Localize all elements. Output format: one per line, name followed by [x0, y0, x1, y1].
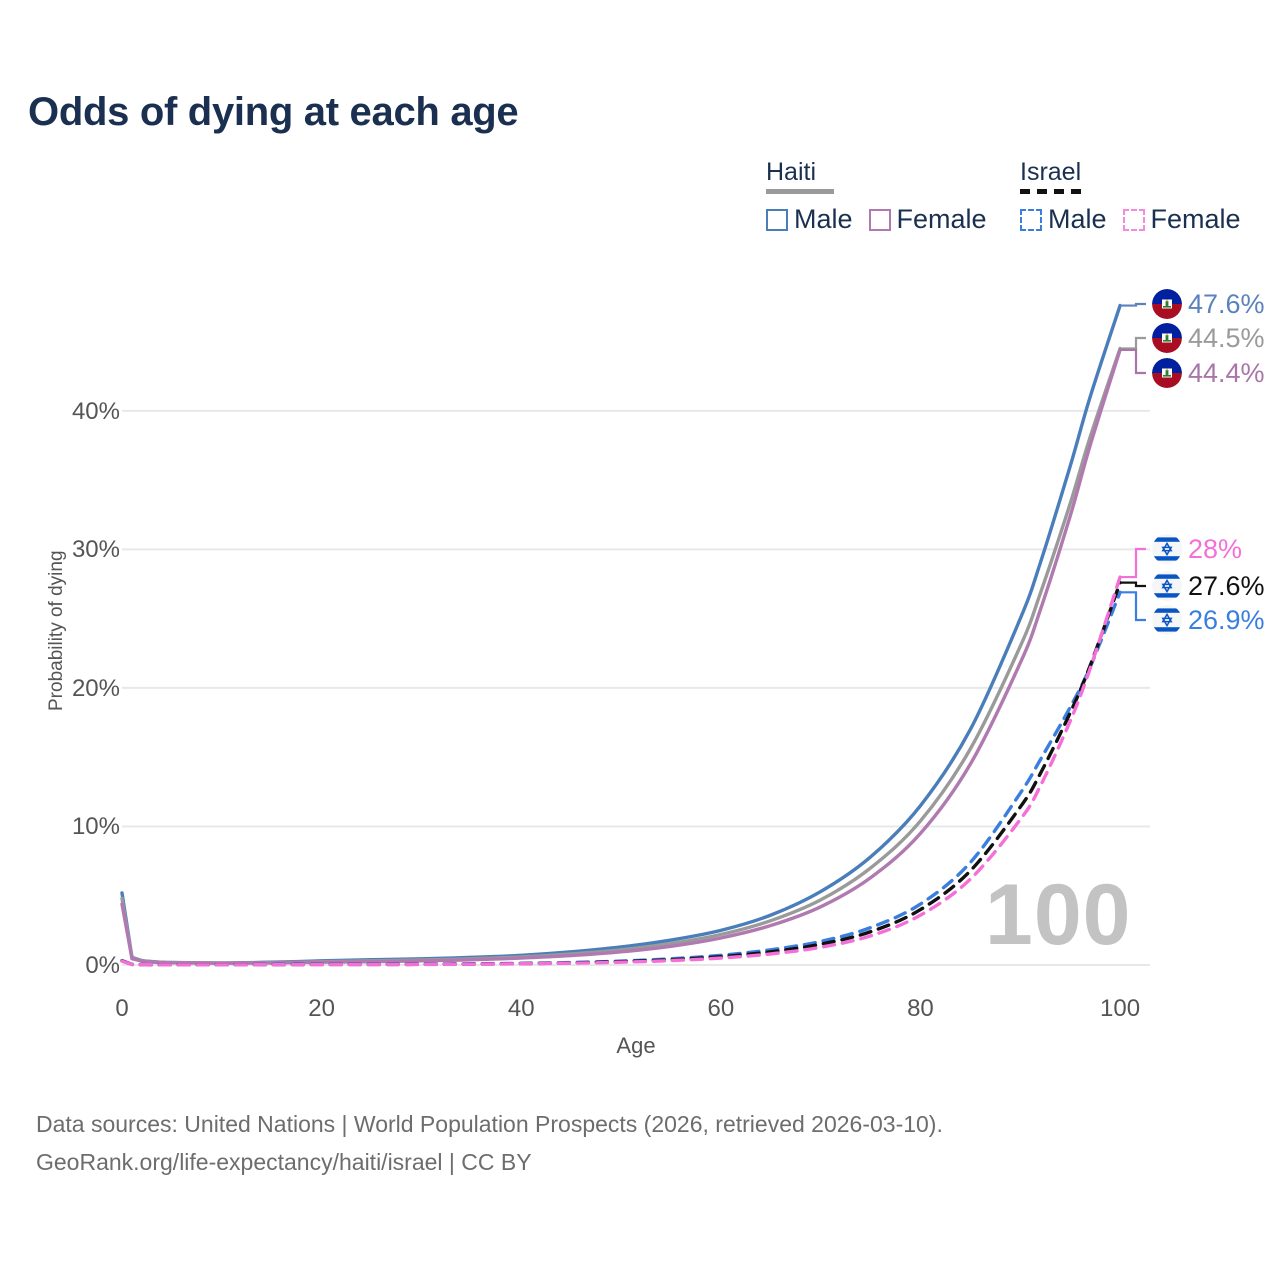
y-axis-tick-label: 20% [72, 675, 120, 703]
x-axis-title: Age [616, 1033, 655, 1059]
end-label-haiti-female[interactable]: 44.4% [1152, 358, 1265, 388]
haiti-flag-icon [1152, 358, 1182, 388]
end-label-connector [1120, 583, 1146, 586]
y-axis-tick-label: 0% [85, 952, 120, 980]
legend-item-label: Female [1151, 204, 1241, 235]
series-line [122, 348, 1120, 963]
x-axis-tick-label: 100 [1100, 995, 1140, 1023]
end-label-israel-female[interactable]: 28% [1152, 534, 1242, 564]
haiti-flag-icon [1152, 358, 1182, 388]
israel-flag-icon [1152, 571, 1182, 601]
footer-data-sources: Data sources: United Nations | World Pop… [36, 1105, 943, 1143]
israel-flag-icon [1152, 534, 1182, 564]
y-axis-tick-label: 30% [72, 536, 120, 564]
watermark-label: 100 [985, 872, 1132, 958]
end-label-value: 28% [1188, 536, 1242, 563]
footer: Data sources: United Nations | World Pop… [36, 1105, 943, 1181]
israel-flag-icon [1152, 534, 1182, 564]
legend-group-israel: Israel Male Female [1020, 158, 1241, 235]
haiti-flag-icon [1152, 289, 1182, 319]
legend-swatch-icon [869, 209, 891, 231]
israel-flag-icon [1152, 571, 1182, 601]
page-title: Odds of dying at each age [28, 90, 518, 135]
end-label-value: 27.6% [1188, 573, 1265, 600]
x-axis-tick-label: 40 [508, 995, 535, 1023]
end-label-connector [1120, 592, 1146, 620]
haiti-flag-icon [1152, 323, 1182, 353]
end-label-israel-male[interactable]: 26.9% [1152, 605, 1265, 635]
end-label-connector [1120, 549, 1146, 577]
end-label-haiti-male[interactable]: 47.6% [1152, 289, 1265, 319]
end-label-connector [1120, 350, 1146, 373]
end-label-connector [1120, 304, 1146, 306]
legend-item-israel-male[interactable]: Male [1020, 204, 1107, 235]
israel-flag-icon [1152, 605, 1182, 635]
x-axis-tick-label: 60 [707, 995, 734, 1023]
y-axis-title: Probability of dying [46, 550, 68, 711]
chart-legend: Haiti Male Female Israel Male [762, 158, 1262, 248]
legend-swatch-icon [1123, 209, 1145, 231]
end-label-value: 47.6% [1188, 291, 1265, 318]
end-label-value: 44.4% [1188, 360, 1265, 387]
y-axis-tick-label: 10% [72, 813, 120, 841]
legend-country-label: Haiti [766, 158, 987, 186]
legend-swatch-icon [766, 209, 788, 231]
legend-rule-dashed [1020, 189, 1088, 194]
legend-swatch-icon [1020, 209, 1042, 231]
series-line [122, 583, 1120, 965]
israel-flag-icon [1152, 605, 1182, 635]
haiti-flag-icon [1152, 289, 1182, 319]
footer-attribution: GeoRank.org/life-expectancy/haiti/israel… [36, 1143, 943, 1181]
legend-rule-solid [766, 189, 834, 194]
legend-item-israel-female[interactable]: Female [1123, 204, 1241, 235]
end-label-value: 26.9% [1188, 607, 1265, 634]
end-label-connector [1120, 338, 1146, 348]
x-axis-tick-label: 0 [115, 995, 128, 1023]
series-line [122, 577, 1120, 965]
end-label-haiti-total[interactable]: 44.5% [1152, 323, 1265, 353]
legend-item-haiti-male[interactable]: Male [766, 204, 853, 235]
series-line [122, 306, 1120, 963]
haiti-flag-icon [1152, 323, 1182, 353]
end-label-value: 44.5% [1188, 325, 1265, 352]
end-label-israel-total[interactable]: 27.6% [1152, 571, 1265, 601]
legend-item-haiti-female[interactable]: Female [869, 204, 987, 235]
y-axis-tick-label: 40% [72, 398, 120, 426]
legend-country-label: Israel [1020, 158, 1241, 186]
x-axis-tick-label: 80 [907, 995, 934, 1023]
legend-group-haiti: Haiti Male Female [766, 158, 987, 235]
legend-item-label: Female [897, 204, 987, 235]
chart-container: Odds of dying at each age Haiti Male Fem… [0, 0, 1280, 1280]
legend-item-label: Male [794, 204, 853, 235]
series-line [122, 592, 1120, 964]
legend-item-label: Male [1048, 204, 1107, 235]
x-axis-tick-label: 20 [308, 995, 335, 1023]
series-line [122, 350, 1120, 963]
